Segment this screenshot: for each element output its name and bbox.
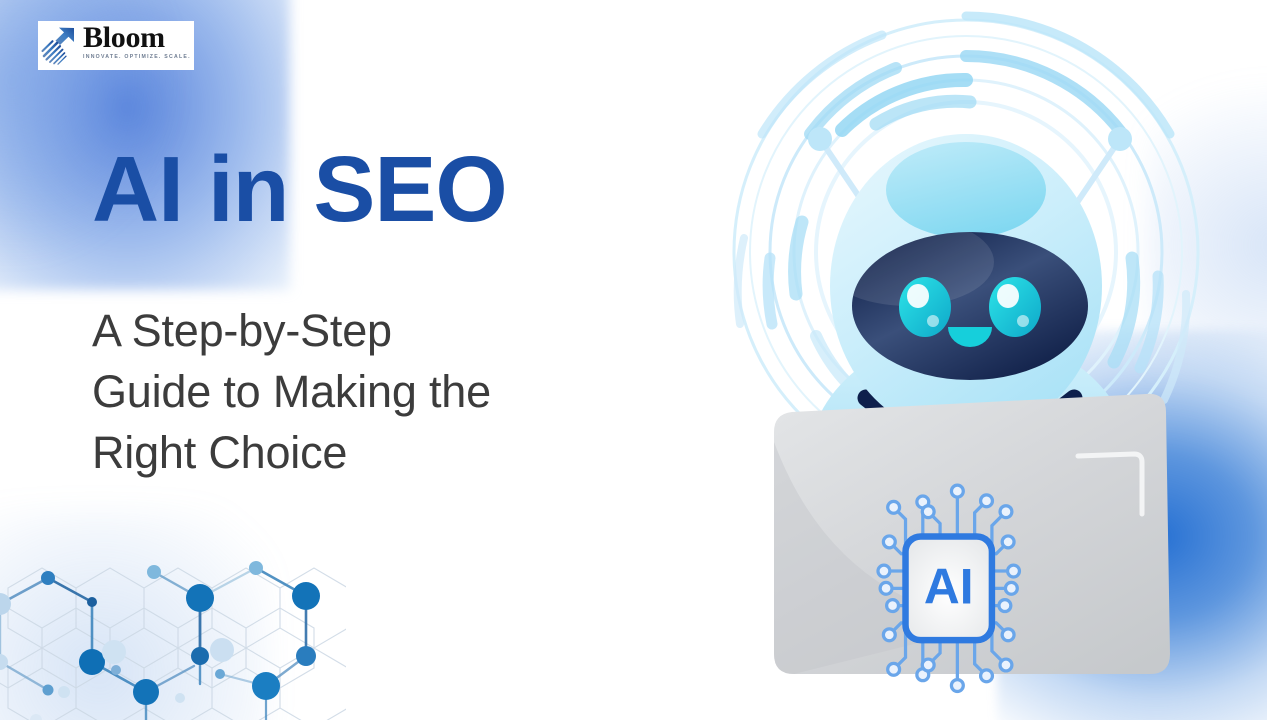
chip-label: AI [924,558,974,614]
logo-text-block: Bloom INNOVATE. OPTIMIZE. SCALE. [83,21,191,60]
page-subtitle: A Step-by-Step Guide to Making the Right… [92,300,652,484]
hexagon-network-pattern [0,534,346,720]
logo-tagline: INNOVATE. OPTIMIZE. SCALE. [83,54,191,60]
logo-wordmark: Bloom [83,23,191,52]
rising-arrow-icon [38,22,82,66]
ai-robot-illustration: AI [700,0,1240,720]
subtitle-line-2: Guide to Making the [92,361,652,422]
brand-logo[interactable]: Bloom INNOVATE. OPTIMIZE. SCALE. [38,21,194,70]
subtitle-line-1: A Step-by-Step [92,300,652,361]
subtitle-line-3: Right Choice [92,422,652,483]
network-node [0,561,320,720]
page-title: AI in SEO [92,143,507,236]
slide-canvas: Bloom INNOVATE. OPTIMIZE. SCALE. AI in S… [0,0,1267,720]
